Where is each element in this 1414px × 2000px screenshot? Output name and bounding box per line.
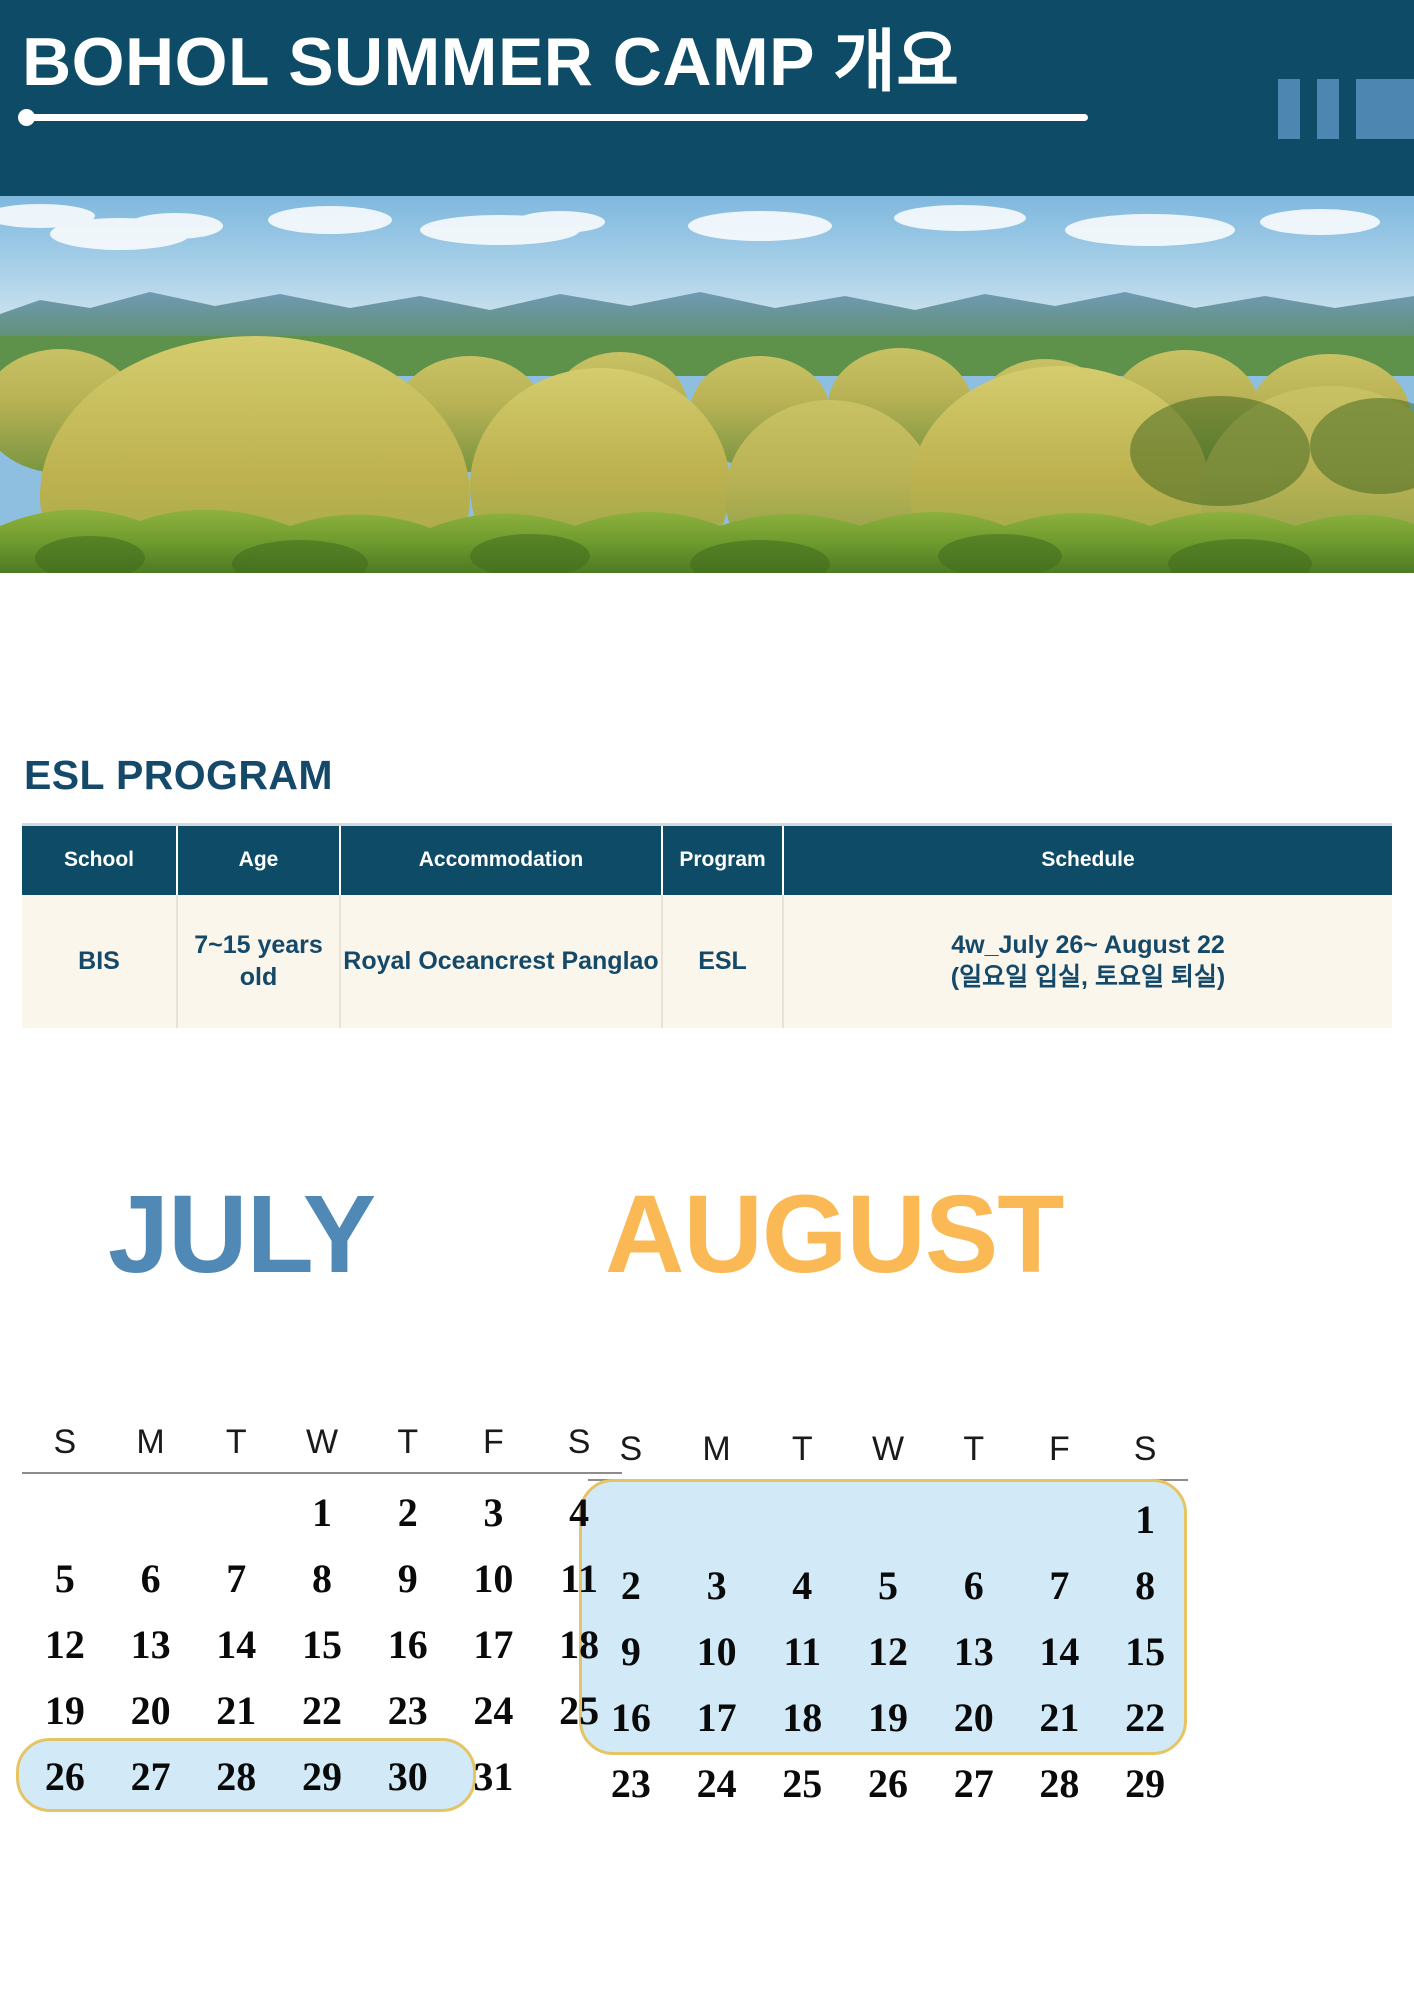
calendar-july-day-6[interactable]: 6 bbox=[108, 1546, 194, 1612]
calendar-july-day-5[interactable]: 5 bbox=[22, 1546, 108, 1612]
calendar-august-weekday-5: F bbox=[1017, 1432, 1103, 1466]
hero-illustration bbox=[0, 196, 1414, 573]
calendar-august-day-grid: 1234567891011121314151617181920212223242… bbox=[588, 1487, 1188, 1817]
calendar-july-weekday-4: T bbox=[365, 1425, 451, 1459]
calendar-august-day-25[interactable]: 25 bbox=[759, 1751, 845, 1817]
calendar-august-day-14[interactable]: 14 bbox=[1017, 1619, 1103, 1685]
calendar-august-weekday-header: SMTWTFS bbox=[588, 1432, 1188, 1479]
esl-program-heading: ESL PROGRAM bbox=[24, 755, 333, 796]
table-body: BIS 7~15 years old Royal Oceancrest Pang… bbox=[22, 895, 1392, 1028]
calendar-july-day-grid: 1234567891011121314151617181920212223242… bbox=[22, 1480, 622, 1810]
calendar-july-day-26[interactable]: 26 bbox=[22, 1744, 108, 1810]
cell-schedule: 4w_July 26~ August 22 (일요일 입실, 토요일 퇴실) bbox=[783, 895, 1392, 1028]
calendar-august-day-4[interactable]: 4 bbox=[759, 1553, 845, 1619]
column-header-accommodation: Accommodation bbox=[340, 825, 662, 895]
calendar-august-day-24[interactable]: 24 bbox=[674, 1751, 760, 1817]
cell-accommodation: Royal Oceancrest Panglao bbox=[340, 895, 662, 1028]
calendar-july-day-13[interactable]: 13 bbox=[108, 1612, 194, 1678]
calendar-august-weekday-3: W bbox=[845, 1432, 931, 1466]
calendar-july-day-16[interactable]: 16 bbox=[365, 1612, 451, 1678]
page-header: BOHOL SUMMER CAMP 개요 bbox=[0, 0, 1414, 196]
calendar-august-day-22[interactable]: 22 bbox=[1102, 1685, 1188, 1751]
calendar-august-weekday-1: M bbox=[674, 1432, 760, 1466]
deco-bar-2 bbox=[1317, 79, 1339, 139]
calendar-august-day-10[interactable]: 10 bbox=[674, 1619, 760, 1685]
cell-school: BIS bbox=[22, 895, 177, 1028]
calendar-july-weekday-5: F bbox=[451, 1425, 537, 1459]
title-underline-rule bbox=[22, 114, 1088, 121]
calendar-august-day-5[interactable]: 5 bbox=[845, 1553, 931, 1619]
calendar-july-header-rule bbox=[22, 1472, 622, 1474]
table-header-row: School Age Accommodation Program Schedul… bbox=[22, 825, 1392, 895]
schedule-line-dates: 4w_July 26~ August 22 bbox=[784, 929, 1392, 962]
header-decoration-bars bbox=[1278, 79, 1414, 139]
column-header-schedule: Schedule bbox=[783, 825, 1392, 895]
calendar-july-day-31[interactable]: 31 bbox=[451, 1744, 537, 1810]
calendar-august-day-20[interactable]: 20 bbox=[931, 1685, 1017, 1751]
calendar-august-day-15[interactable]: 15 bbox=[1102, 1619, 1188, 1685]
poster-page: BOHOL SUMMER CAMP 개요 bbox=[0, 0, 1414, 2000]
table-header: School Age Accommodation Program Schedul… bbox=[22, 825, 1392, 895]
calendar-august-weekday-6: S bbox=[1102, 1432, 1188, 1466]
calendar-august-day-27[interactable]: 27 bbox=[931, 1751, 1017, 1817]
calendar-august-day-16[interactable]: 16 bbox=[588, 1685, 674, 1751]
page-title: BOHOL SUMMER CAMP 개요 bbox=[22, 28, 959, 96]
calendar-july-day-9[interactable]: 9 bbox=[365, 1546, 451, 1612]
calendar-august-day-29[interactable]: 29 bbox=[1102, 1751, 1188, 1817]
calendar-july-day-10[interactable]: 10 bbox=[451, 1546, 537, 1612]
calendar-july-day-8[interactable]: 8 bbox=[279, 1546, 365, 1612]
hero-image-chocolate-hills bbox=[0, 196, 1414, 573]
month-title-august: AUGUST bbox=[605, 1180, 1063, 1290]
calendar-august-weekday-0: S bbox=[588, 1432, 674, 1466]
calendar-july-day-4[interactable]: 4 bbox=[536, 1480, 622, 1546]
esl-program-table-wrapper: School Age Accommodation Program Schedul… bbox=[22, 823, 1392, 1028]
calendar-august-day-7[interactable]: 7 bbox=[1017, 1553, 1103, 1619]
calendar-august-day-17[interactable]: 17 bbox=[674, 1685, 760, 1751]
calendar-august-day-26[interactable]: 26 bbox=[845, 1751, 931, 1817]
deco-bar-1 bbox=[1278, 79, 1300, 139]
schedule-line-note: (일요일 입실, 토요일 퇴실) bbox=[784, 961, 1392, 994]
calendar-july-day-21[interactable]: 21 bbox=[193, 1678, 279, 1744]
calendar-july-weekday-1: M bbox=[108, 1425, 194, 1459]
calendar-july: SMTWTFS 12345678910111213141516171819202… bbox=[22, 1425, 622, 1810]
calendar-august-day-12[interactable]: 12 bbox=[845, 1619, 931, 1685]
calendar-july-day-20[interactable]: 20 bbox=[108, 1678, 194, 1744]
calendar-july-day-24[interactable]: 24 bbox=[451, 1678, 537, 1744]
calendar-august-day-13[interactable]: 13 bbox=[931, 1619, 1017, 1685]
calendar-august-day-3[interactable]: 3 bbox=[674, 1553, 760, 1619]
deco-bar-3 bbox=[1356, 79, 1414, 139]
calendar-july-day-2[interactable]: 2 bbox=[365, 1480, 451, 1546]
calendar-july-day-7[interactable]: 7 bbox=[193, 1546, 279, 1612]
calendar-august-day-11[interactable]: 11 bbox=[759, 1619, 845, 1685]
calendar-july-day-22[interactable]: 22 bbox=[279, 1678, 365, 1744]
calendar-august-weekday-2: T bbox=[759, 1432, 845, 1466]
calendar-july-day-3[interactable]: 3 bbox=[451, 1480, 537, 1546]
calendar-august-day-6[interactable]: 6 bbox=[931, 1553, 1017, 1619]
calendar-july-day-19[interactable]: 19 bbox=[22, 1678, 108, 1744]
table-row: BIS 7~15 years old Royal Oceancrest Pang… bbox=[22, 895, 1392, 1028]
calendar-july-day-30[interactable]: 30 bbox=[365, 1744, 451, 1810]
calendar-july-day-27[interactable]: 27 bbox=[108, 1744, 194, 1810]
calendar-august-day-9[interactable]: 9 bbox=[588, 1619, 674, 1685]
calendar-july-weekday-0: S bbox=[22, 1425, 108, 1459]
column-header-school: School bbox=[22, 825, 177, 895]
cell-age: 7~15 years old bbox=[177, 895, 340, 1028]
calendar-august-day-1[interactable]: 1 bbox=[1102, 1487, 1188, 1553]
calendar-august-day-23[interactable]: 23 bbox=[588, 1751, 674, 1817]
calendar-august-weekday-4: T bbox=[931, 1432, 1017, 1466]
calendar-july-day-15[interactable]: 15 bbox=[279, 1612, 365, 1678]
calendar-july-day-14[interactable]: 14 bbox=[193, 1612, 279, 1678]
calendar-july-day-23[interactable]: 23 bbox=[365, 1678, 451, 1744]
calendar-august-day-21[interactable]: 21 bbox=[1017, 1685, 1103, 1751]
calendar-july-day-17[interactable]: 17 bbox=[451, 1612, 537, 1678]
calendar-july-day-28[interactable]: 28 bbox=[193, 1744, 279, 1810]
esl-program-table: School Age Accommodation Program Schedul… bbox=[22, 823, 1392, 1028]
column-header-age: Age bbox=[177, 825, 340, 895]
calendar-august: SMTWTFS 12345678910111213141516171819202… bbox=[588, 1432, 1188, 1817]
calendar-july-weekday-header: SMTWTFS bbox=[22, 1425, 622, 1472]
calendar-july-weekday-3: W bbox=[279, 1425, 365, 1459]
cell-program: ESL bbox=[662, 895, 783, 1028]
calendar-july-day-1[interactable]: 1 bbox=[279, 1480, 365, 1546]
calendar-august-day-28[interactable]: 28 bbox=[1017, 1751, 1103, 1817]
calendar-august-day-19[interactable]: 19 bbox=[845, 1685, 931, 1751]
calendar-august-day-2[interactable]: 2 bbox=[588, 1553, 674, 1619]
calendar-july-day-29[interactable]: 29 bbox=[279, 1744, 365, 1810]
column-header-program: Program bbox=[662, 825, 783, 895]
calendar-july-day-12[interactable]: 12 bbox=[22, 1612, 108, 1678]
calendar-august-day-18[interactable]: 18 bbox=[759, 1685, 845, 1751]
calendar-july-weekday-2: T bbox=[193, 1425, 279, 1459]
month-title-july: JULY bbox=[108, 1180, 375, 1290]
calendar-august-day-8[interactable]: 8 bbox=[1102, 1553, 1188, 1619]
